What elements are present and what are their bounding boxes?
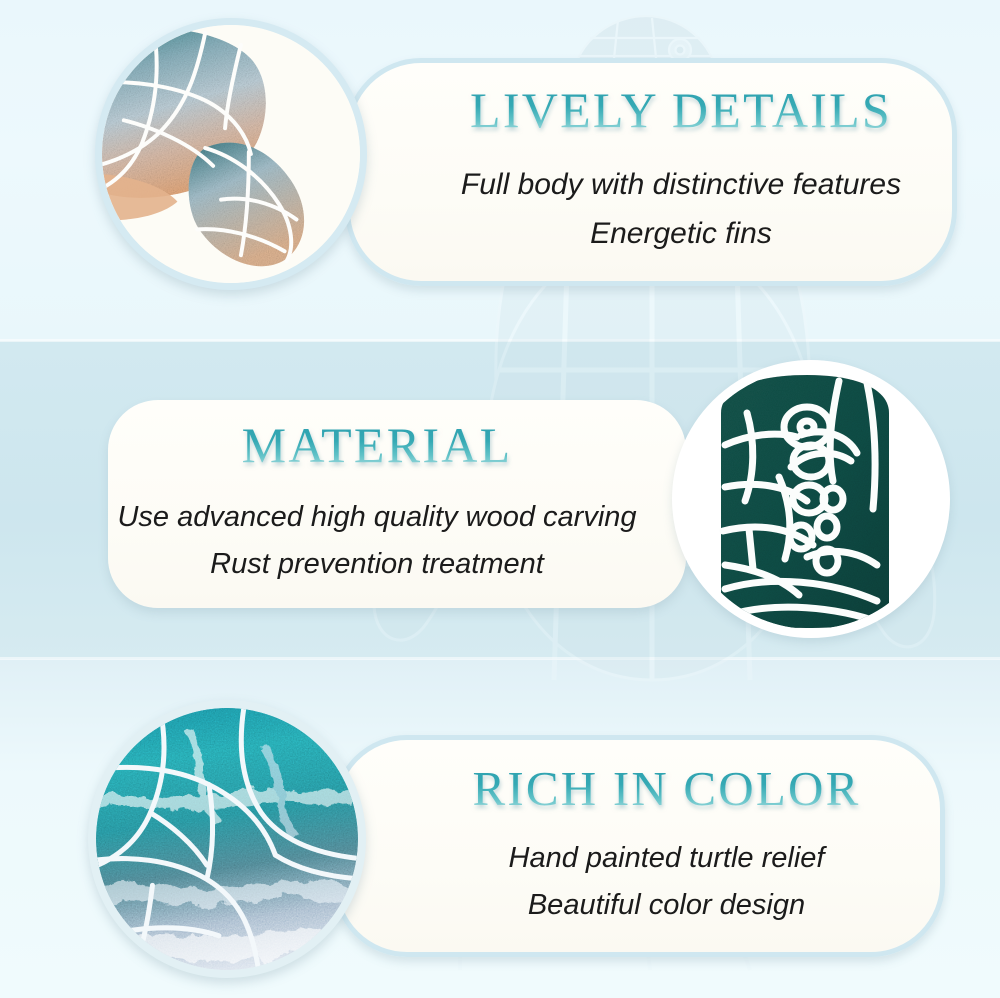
feature-card-material: MATERIAL Use advanced high quality wood … xyxy=(108,400,686,608)
feature-line: Rust prevention treatment xyxy=(210,541,544,588)
band-divider-upper xyxy=(0,339,1000,342)
feature-line: Beautiful color design xyxy=(528,882,805,929)
feature-image-carved-wood-relief xyxy=(672,360,950,638)
feature-heading: LIVELY DETAILS xyxy=(470,85,892,135)
feature-image-turtle-fin-closeup xyxy=(95,18,367,290)
infographic-stage: LIVELY DETAILS Full body with distinctiv… xyxy=(0,0,1000,998)
feature-heading: RICH IN COLOR xyxy=(472,764,860,813)
feature-line: Full body with distinctive features xyxy=(461,161,901,210)
feature-line: Use advanced high quality wood carving xyxy=(117,494,636,541)
feature-image-turtle-shell-texture xyxy=(88,700,366,978)
feature-card-rich-in-color: RICH IN COLOR Hand painted turtle relief… xyxy=(333,735,945,957)
feature-line: Energetic fins xyxy=(590,210,772,259)
feature-card-lively-details: LIVELY DETAILS Full body with distinctiv… xyxy=(345,58,957,286)
band-divider-lower xyxy=(0,657,1000,660)
feature-heading: MATERIAL xyxy=(242,420,513,470)
feature-line: Hand painted turtle relief xyxy=(509,835,825,882)
